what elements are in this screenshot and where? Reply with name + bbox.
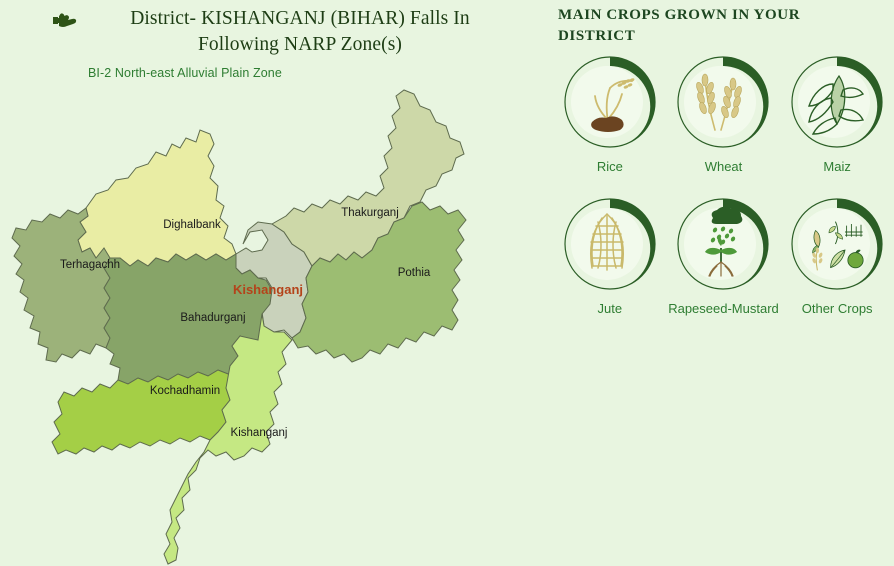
map-label-kishanganj-block: Kishanganj (231, 427, 288, 439)
crops-heading-line1: MAIN CROPS GROWN IN YOUR (558, 5, 878, 26)
crop-label-jute: Jute (598, 301, 623, 316)
crop-item-rice[interactable]: Rice (553, 54, 667, 174)
map-label-dighalbank: Dighalbank (163, 219, 221, 231)
crop-item-maiz[interactable]: Maiz (780, 54, 894, 174)
crop-label-rice: Rice (597, 159, 623, 174)
crops-panel: MAIN CROPS GROWN IN YOUR DISTRICT (545, 0, 894, 566)
crop-item-other-crops[interactable]: Other Crops (780, 196, 894, 316)
crop-label-other-crops: Other Crops (802, 301, 873, 316)
narp-zone-label: BI-2 North-east Alluvial Plain Zone (88, 66, 282, 80)
crop-item-rapeseed-mustard[interactable]: Rapeseed-Mustard (667, 196, 781, 316)
district-map-panel: District- KISHANGANJ (BIHAR) Falls In Fo… (0, 0, 545, 566)
pointing-hand-icon (52, 10, 78, 30)
crops-panel-heading: MAIN CROPS GROWN IN YOUR DISTRICT (558, 5, 878, 47)
wheat-stalks-icon (675, 54, 771, 150)
other-crops-collage-icon (789, 196, 885, 292)
crops-heading-line2: DISTRICT (558, 26, 878, 47)
crop-label-maiz: Maiz (823, 159, 850, 174)
map-district-label: Kishanganj (233, 282, 303, 297)
map-label-bahadurganj: Bahadurganj (180, 312, 245, 324)
crop-item-wheat[interactable]: Wheat (667, 54, 781, 174)
crop-label-wheat: Wheat (705, 159, 743, 174)
mustard-plant-icon (675, 196, 771, 292)
district-map[interactable]: Dighalbank Terhagachh Thakurganj Pothia … (0, 82, 545, 566)
map-svg[interactable]: Dighalbank Terhagachh Thakurganj Pothia … (0, 82, 545, 566)
jute-weave-icon (562, 196, 658, 292)
map-label-pothia: Pothia (398, 267, 431, 279)
page-title-line2: Following NARP Zone(s) (90, 32, 510, 58)
map-label-thakurganj: Thakurganj (341, 207, 399, 219)
map-label-kochadhamin: Kochadhamin (150, 385, 220, 397)
map-region-dighalbank[interactable] (78, 130, 236, 266)
crop-label-rapeseed-mustard: Rapeseed-Mustard (668, 301, 779, 316)
map-label-terhagachh: Terhagachh (60, 259, 120, 271)
page-title: District- KISHANGANJ (BIHAR) Falls In Fo… (90, 6, 510, 58)
page-title-line1: District- KISHANGANJ (BIHAR) Falls In (90, 6, 510, 32)
crop-item-jute[interactable]: Jute (553, 196, 667, 316)
rice-plant-icon (562, 54, 658, 150)
crops-grid: Rice (553, 54, 894, 316)
maize-cob-icon (789, 54, 885, 150)
